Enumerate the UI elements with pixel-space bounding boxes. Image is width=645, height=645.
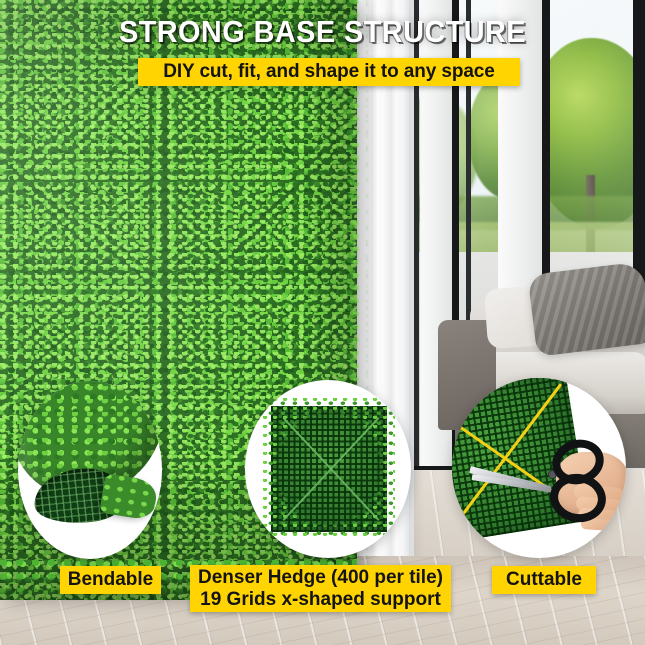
bendable-folded-flap	[99, 473, 159, 521]
throw-blanket	[527, 261, 645, 357]
tile-back-grid	[271, 406, 387, 532]
product-feature-image: STRONG BASE STRUCTURE DIY cut, fit, and …	[0, 0, 645, 645]
headline-title: STRONG BASE STRUCTURE	[23, 14, 623, 50]
label-bendable: Bendable	[60, 566, 161, 594]
callout-cuttable-image	[452, 378, 626, 558]
callout-bendable-image	[18, 381, 162, 559]
hand-holding-scissors	[526, 438, 626, 536]
label-denser-hedge: Denser Hedge (400 per tile) 19 Grids x-s…	[190, 565, 451, 612]
callout-denser-image	[245, 380, 411, 558]
headline-subtitle-text: DIY cut, fit, and shape it to any space	[163, 61, 495, 83]
label-cuttable: Cuttable	[492, 566, 596, 594]
window-frame-right	[633, 0, 645, 300]
headline-subtitle-bar: DIY cut, fit, and shape it to any space	[138, 58, 520, 86]
